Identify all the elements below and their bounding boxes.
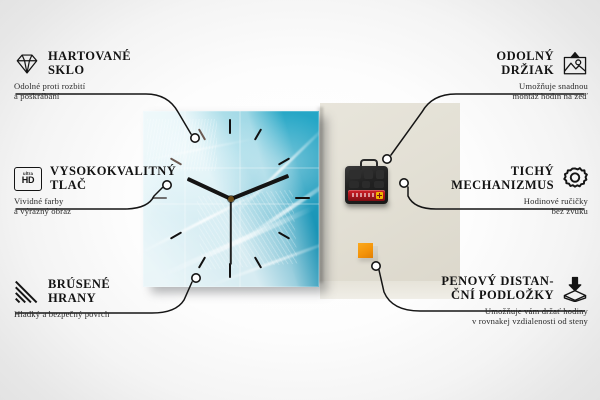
callout-marker-glass [191,134,199,142]
feature-silent-mechanism: TICHÝ MECHANIZMUS Hodinové ručičky bez z… [378,165,588,217]
foam-spacer-icon [562,276,588,302]
feature-title: VYSOKOKVALITNÝ [50,165,176,179]
feature-desc-line: Hladký a bezpečný povrch [14,309,224,319]
feature-title: ČNÍ PODLOŽKY [441,289,554,303]
feature-title: HRANY [48,292,110,306]
feature-desc-line: Vividné farby [14,196,224,206]
feature-desc-line: Hodinové ručičky [378,196,588,206]
feature-title: PENOVÝ DISTAN- [441,275,554,289]
feature-title: ODOLNÝ [496,50,554,64]
feature-desc: Umožňuje vám držať hodiny v rovnakej vzd… [378,306,588,327]
feature-desc-line: Umožňuje vám držať hodiny [378,306,588,316]
product-infographic: HARTOVANÉ SKLO Odolné proti rozbití a po… [0,0,600,400]
feature-title: HARTOVANÉ [48,50,131,64]
beveled-edge-icon [14,279,40,305]
feature-beveled-edges: BRÚSENÉ HRANY Hladký a bezpečný povrch [14,278,224,319]
feature-desc: Vividné farby a výrazný obraz [14,196,224,217]
feature-title: BRÚSENÉ [48,278,110,292]
gear-icon [562,166,588,192]
feature-title: MECHANIZMUS [451,179,554,193]
feature-title: TLAČ [50,179,176,193]
feature-desc-line: montáž hodin na zeď [378,91,588,101]
feature-desc-line: a poškrábání [14,91,224,101]
callout-marker-foam [372,262,380,270]
feature-high-quality-print: ultra HD VYSOKOKVALITNÝ TLAČ Vividné far… [14,165,224,217]
feature-title: TICHÝ [451,165,554,179]
ultra-hd-icon: ultra HD [14,167,42,191]
feature-desc-line: bez zvuku [378,206,588,216]
feature-desc: Umožňuje snadnou montáž hodin na zeď [378,81,588,102]
feature-tempered-glass: HARTOVANÉ SKLO Odolné proti rozbití a po… [14,50,224,102]
feature-durable-hanger: ODOLNÝ DRŽIAK Umožňuje snadnou montáž ho… [378,50,588,102]
feature-desc-line: Odolné proti rozbití [14,81,224,91]
feature-desc-line: a výrazný obraz [14,206,224,216]
feature-desc-line: Umožňuje snadnou [378,81,588,91]
feature-desc-line: v rovnakej vzdialenosti od steny [378,316,588,326]
feature-title: DRŽIAK [496,64,554,78]
feature-foam-spacers: PENOVÝ DISTAN- ČNÍ PODLOŽKY Umožňuje vám… [378,275,588,327]
picture-frame-hanger-icon [562,51,588,77]
feature-desc: Hodinové ručičky bez zvuku [378,196,588,217]
feature-desc: Odolné proti rozbití a poškrábání [14,81,224,102]
ultra-hd-main-label: HD [22,176,35,185]
feature-title: SKLO [48,64,131,78]
feature-desc: Hladký a bezpečný povrch [14,309,224,319]
connector-hanger [391,94,584,155]
diamond-icon [14,51,40,77]
callout-marker-hanger [383,155,391,163]
